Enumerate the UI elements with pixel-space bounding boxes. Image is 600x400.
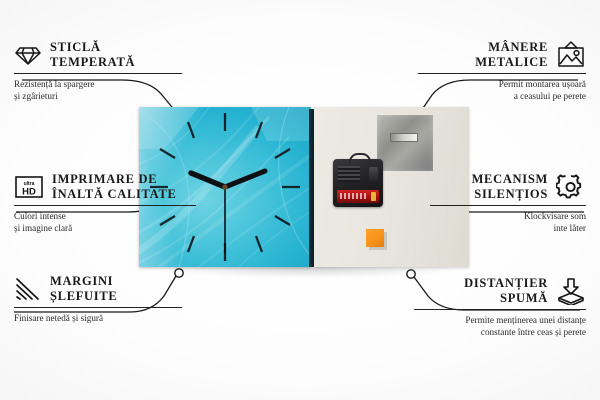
movement-hanging-loop: [349, 153, 371, 164]
callout-title: MÂNERE METALICE: [475, 40, 548, 70]
movement-adjust-knob: [369, 167, 378, 181]
callout-subtitle: Klockvisare som inte låter: [430, 210, 586, 234]
diamond-icon: [14, 43, 42, 67]
callout-header: MARGINI ȘLEFUITE: [14, 274, 182, 304]
callout-divider: [14, 307, 182, 308]
callout-divider: [14, 205, 196, 206]
callout-header: ultra HD IMPRIMARE DE ÎNALTĂ CALITATE: [14, 172, 196, 202]
gear-icon: [556, 173, 586, 201]
callout-header: STICLĂ TEMPERATĂ: [14, 40, 182, 70]
infographic-canvas: STICLĂ TEMPERATĂ Rezistență la spargere …: [0, 0, 600, 400]
polished-edge-icon: [14, 276, 42, 302]
callout-title: STICLĂ TEMPERATĂ: [50, 40, 135, 70]
callout-subtitle: Rezistență la spargere și zgârieturi: [14, 78, 182, 102]
callout-divider: [418, 73, 586, 74]
callout-tempered-glass[interactable]: STICLĂ TEMPERATĂ Rezistență la spargere …: [14, 40, 182, 102]
battery-terminal: [371, 192, 376, 201]
battery-label: [340, 193, 368, 199]
callout-high-quality-print[interactable]: ultra HD IMPRIMARE DE ÎNALTĂ CALITATE Cu…: [14, 172, 196, 234]
battery: [337, 190, 379, 203]
callout-title: MARGINI ȘLEFUITE: [50, 274, 117, 304]
callout-foam-spacer[interactable]: DISTANȚIER SPUMĂ Permite menținerea unei…: [414, 276, 586, 338]
movement-grill: [338, 166, 360, 182]
callout-title: DISTANȚIER SPUMĂ: [464, 276, 548, 306]
clock-minute-hand: [225, 171, 265, 187]
callout-subtitle: Culori intense și imagine clară: [14, 210, 196, 234]
svg-text:HD: HD: [22, 186, 36, 197]
hanger-slot: [390, 133, 418, 142]
ultra-hd-icon: ultra HD: [14, 175, 44, 199]
callout-silent-mechanism[interactable]: MECANISM SILENȚIOS Klockvisare som inte …: [430, 172, 586, 234]
callout-header: DISTANȚIER SPUMĂ: [414, 276, 586, 306]
callout-subtitle: Finisare netedă și sigură: [14, 312, 182, 324]
callout-title: IMPRIMARE DE ÎNALTĂ CALITATE: [52, 172, 177, 202]
clock-hour-hand: [191, 173, 225, 187]
foam-spacer-icon: [556, 277, 586, 305]
callout-divider: [414, 309, 586, 310]
callout-divider: [14, 73, 182, 74]
picture-frame-hanger-icon: [556, 41, 586, 69]
callout-divider: [430, 205, 586, 206]
callout-metal-handles[interactable]: MÂNERE METALICE Permit montarea ușoară a…: [418, 40, 586, 102]
clock-center-cap: [222, 184, 227, 189]
callout-subtitle: Permite menținerea unei distanțe constan…: [414, 314, 586, 338]
metal-hanger: [377, 115, 433, 171]
callout-polished-edges[interactable]: MARGINI ȘLEFUITE Finisare netedă și sigu…: [14, 274, 182, 324]
callout-header: MÂNERE METALICE: [418, 40, 586, 70]
foam-spacer-pad: [366, 229, 384, 247]
callout-title: MECANISM SILENȚIOS: [472, 172, 548, 202]
callout-header: MECANISM SILENȚIOS: [430, 172, 586, 202]
clock-movement: [333, 159, 383, 207]
callout-subtitle: Permit montarea ușoară a ceasului pe per…: [418, 78, 586, 102]
